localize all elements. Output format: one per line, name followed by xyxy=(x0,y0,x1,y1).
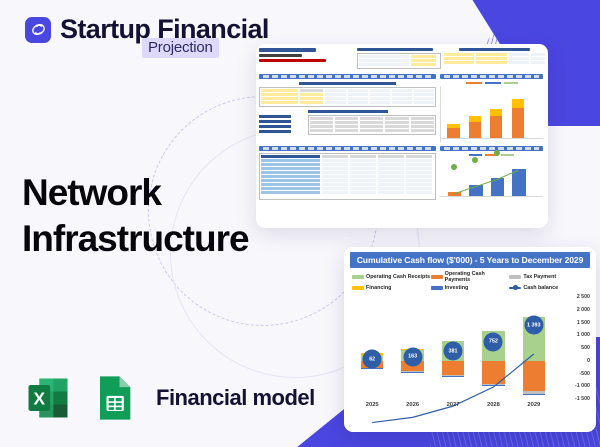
data-point-label: 752 xyxy=(484,332,503,351)
y-axis-tick-label: -1 000 xyxy=(575,383,590,389)
data-point-label: 62 xyxy=(363,350,382,369)
chart-bars-layer: 621633817521 393 xyxy=(352,297,554,399)
legend-item: Financing xyxy=(352,285,431,291)
data-point-label: 163 xyxy=(403,347,422,366)
file-format-label: Financial model xyxy=(156,385,315,411)
legend-label: Cash balance xyxy=(523,285,558,291)
legend-item: Investing xyxy=(431,285,510,291)
legend-label: Financing xyxy=(366,285,391,291)
legend-swatch xyxy=(509,275,521,278)
legend-swatch xyxy=(431,286,443,289)
legend-item: Operating Cash Receipts xyxy=(352,271,431,283)
brand-subtitle-badge: Projection xyxy=(142,38,219,58)
legend-item: Tax Payment xyxy=(509,271,588,283)
x-axis-tick-label: 2029 xyxy=(514,402,554,416)
legend-item: Cash balance xyxy=(509,285,588,291)
y-axis-tick-label: 1 500 xyxy=(577,320,590,326)
legend-swatch xyxy=(509,287,521,289)
google-sheets-icon xyxy=(87,372,139,424)
data-point-label: 381 xyxy=(444,342,463,361)
cumulative-cash-flow-chart-card[interactable]: Cumulative Cash flow ($'000) - 5 Years t… xyxy=(344,247,596,432)
file-format-row: X Financial model xyxy=(22,372,315,424)
chart-title: Cumulative Cash flow ($'000) - 5 Years t… xyxy=(350,252,590,268)
y-axis-tick-label: 500 xyxy=(581,345,590,351)
x-axis-tick-label: 2028 xyxy=(473,402,513,416)
svg-text:X: X xyxy=(34,389,46,409)
page-title-line-2: Infrastructure xyxy=(22,216,249,262)
y-axis-tick-label: -500 xyxy=(579,371,590,377)
legend-label: Investing xyxy=(445,285,469,291)
x-axis-tick-label: 2025 xyxy=(352,402,392,416)
mini-chart-revenue-breakdown xyxy=(440,81,543,142)
chart-legend: Operating Cash ReceiptsOperating Cash Pa… xyxy=(350,271,590,293)
spreadsheet-thumbnail xyxy=(256,44,548,228)
chart-y-axis: 2 5002 0001 5001 0005000-500-1 000-1 500 xyxy=(556,295,590,399)
chart-x-axis: 20252026202720282029 xyxy=(352,402,554,416)
chart-plot-area: 621633817521 393 2 5002 0001 5001 000500… xyxy=(350,295,590,417)
y-axis-tick-label: 2 500 xyxy=(577,294,590,300)
dashboard-preview-card[interactable] xyxy=(256,44,548,228)
y-axis-tick-label: 1 000 xyxy=(577,332,590,338)
x-axis-tick-label: 2026 xyxy=(392,402,432,416)
legend-label: Operating Cash Receipts xyxy=(366,274,430,280)
page-title: Network Infrastructure xyxy=(22,170,249,263)
page-title-line-1: Network xyxy=(22,170,249,216)
spiral-e-logo-icon xyxy=(25,17,51,43)
legend-swatch xyxy=(352,275,364,278)
y-axis-tick-label: 2 000 xyxy=(577,307,590,313)
poster-canvas: Startup Financial Projection Network Inf… xyxy=(0,0,600,447)
legend-label: Operating Cash Payments xyxy=(445,271,510,283)
legend-label: Tax Payment xyxy=(523,274,556,280)
microsoft-excel-icon: X xyxy=(22,372,74,424)
mini-chart-cash-flow xyxy=(440,153,543,200)
legend-item: Operating Cash Payments xyxy=(431,271,510,283)
legend-swatch xyxy=(352,286,364,289)
data-point-label: 1 393 xyxy=(524,316,543,335)
y-axis-tick-label: -1 500 xyxy=(575,396,590,402)
legend-swatch xyxy=(431,275,443,278)
x-axis-tick-label: 2027 xyxy=(433,402,473,416)
y-axis-tick-label: 0 xyxy=(587,358,590,364)
